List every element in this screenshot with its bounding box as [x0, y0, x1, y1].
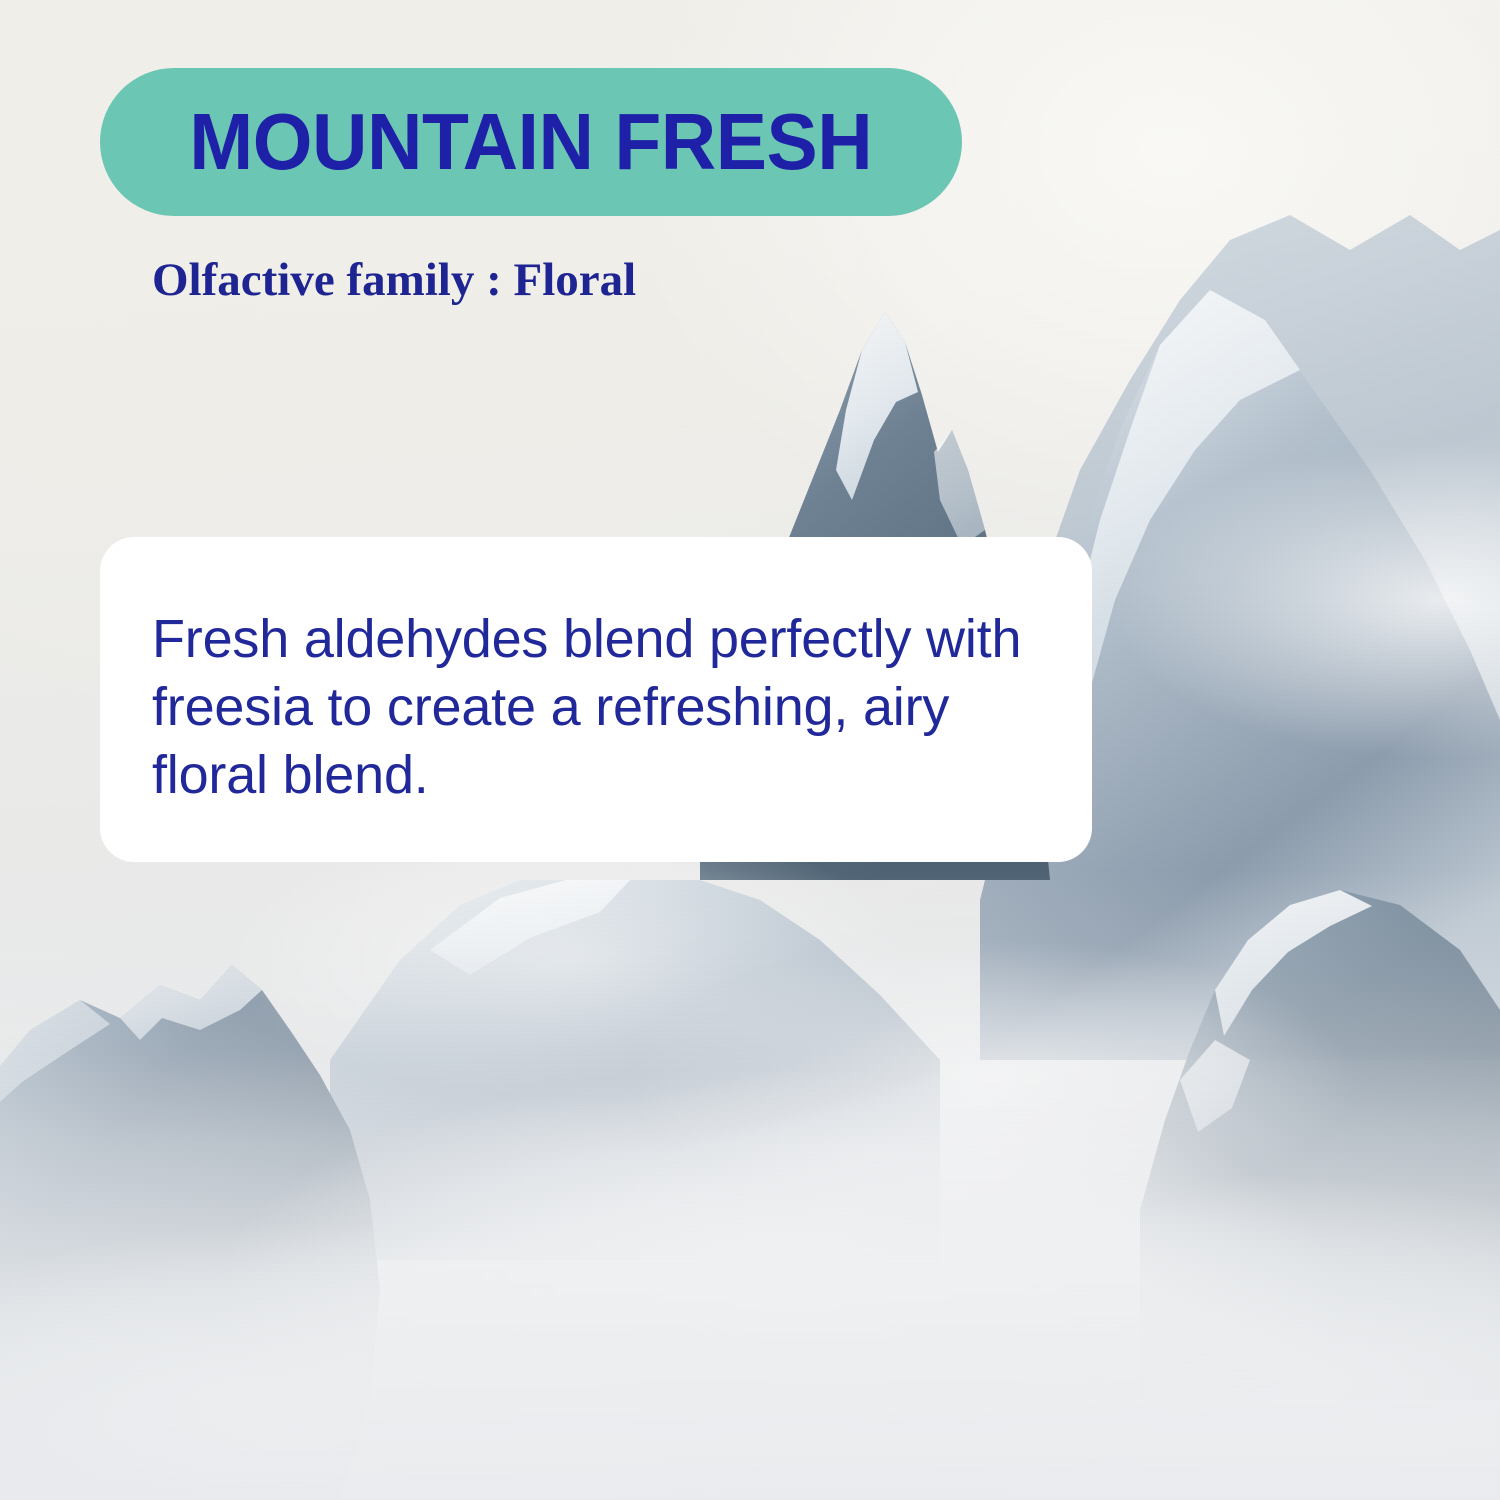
description-text: Fresh aldehydes blend perfectly with fre…: [152, 605, 1052, 809]
product-scent-card: MOUNTAIN FRESH Olfactive family : Floral…: [0, 0, 1500, 1500]
description-card: Fresh aldehydes blend perfectly with fre…: [100, 537, 1092, 862]
content-overlay: MOUNTAIN FRESH Olfactive family : Floral…: [0, 0, 1500, 1500]
scent-name-badge: MOUNTAIN FRESH: [100, 68, 962, 216]
scent-name-label: MOUNTAIN FRESH: [189, 102, 872, 182]
olfactive-family-label: Olfactive family : Floral: [152, 255, 636, 307]
